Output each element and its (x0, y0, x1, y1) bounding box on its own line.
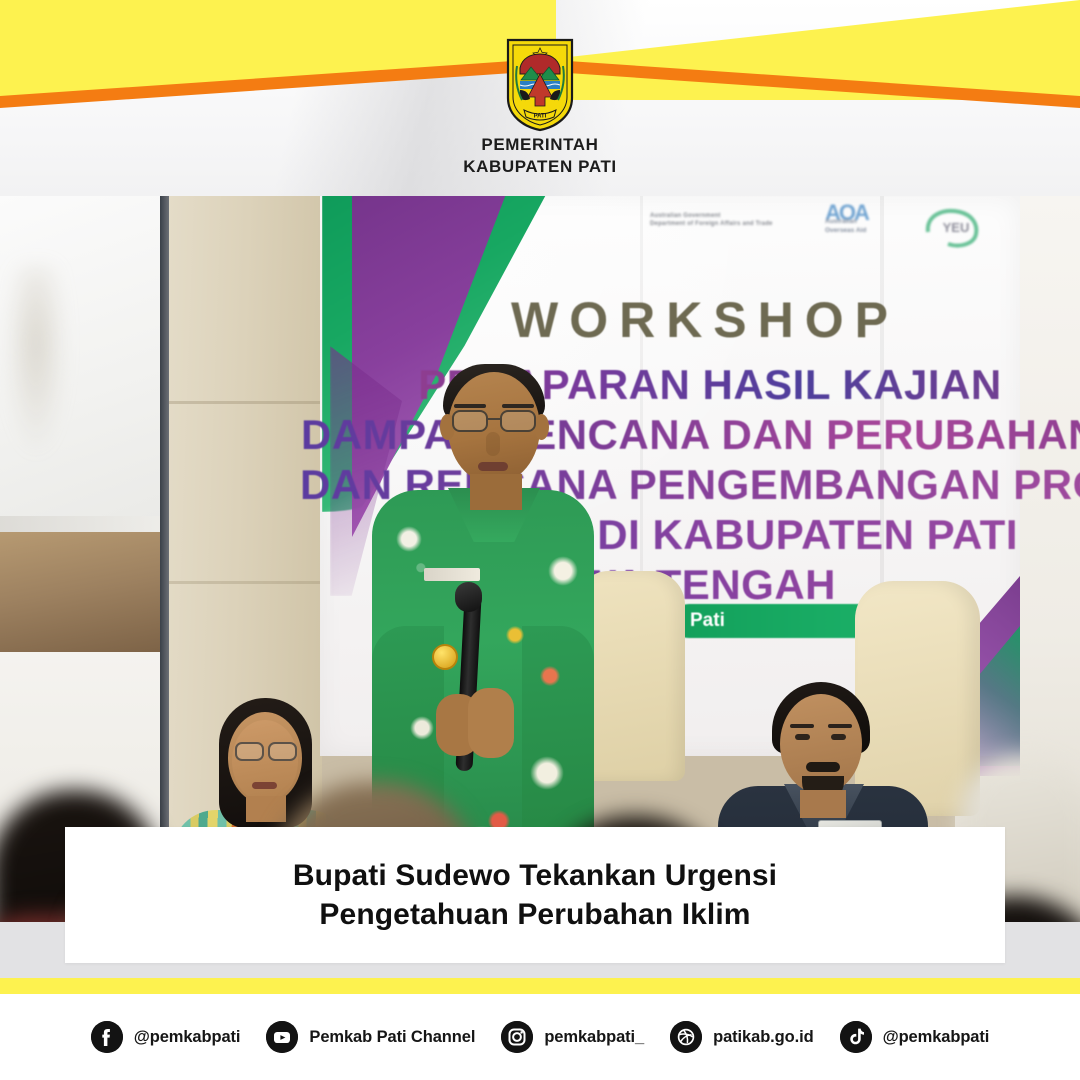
social-account-instagram[interactable]: pemkabpati_ (501, 1021, 644, 1053)
headline-text: Bupati Sudewo Tekankan Urgensi Pengetahu… (293, 856, 777, 934)
social-media-poster: PATI PEMERINTAH KABUPATEN PATI (0, 0, 1080, 1080)
organization-name: PEMERINTAH KABUPATEN PATI (0, 134, 1080, 178)
banner-pill-label: Pati (690, 610, 725, 632)
instagram-icon[interactable] (501, 1021, 533, 1053)
speaker-eyebrow-left (454, 404, 486, 408)
man-eye-left (795, 734, 810, 740)
social-account-facebook[interactable]: @pemkabpati (91, 1021, 241, 1053)
wall-panel-seam (167, 581, 322, 584)
speaker-eyeglass-bridge (488, 418, 500, 420)
website-icon[interactable] (670, 1021, 702, 1053)
speaker-eyebrow-right (502, 404, 534, 408)
woman-eyeglass-left (235, 742, 264, 761)
wooden-podium (0, 532, 180, 652)
batik-motif (396, 526, 422, 552)
footer-yellow-divider (0, 978, 1080, 994)
batik-motif (530, 756, 564, 790)
speaker-eyeglass-left (452, 410, 488, 432)
wall-panel-seam (167, 401, 322, 404)
batik-motif (548, 556, 578, 586)
man-eyebrow-left (790, 724, 814, 728)
social-account-tiktok[interactable]: @pemkabpati (840, 1021, 990, 1053)
aoa-line-2: Overseas Aid (825, 226, 868, 235)
org-line-2: KABUPATEN PATI (0, 156, 1080, 178)
facebook-icon[interactable] (91, 1021, 123, 1053)
poster-header: PATI PEMERINTAH KABUPATEN PATI (0, 0, 1080, 196)
social-account-youtube[interactable]: Pemkab Pati Channel (266, 1021, 475, 1053)
australian-government-dfat-logo: Australian Government Department of Fore… (650, 212, 773, 228)
headline-line-2: Pengetahuan Perubahan Iklim (293, 895, 777, 934)
woman-eyeglass-right (268, 742, 297, 761)
headline-line-1: Bupati Sudewo Tekankan Urgensi (293, 856, 777, 895)
pati-regency-crest-icon: PATI (504, 34, 576, 132)
woman-neck (246, 796, 286, 822)
dfat-logo-line-1: Australian Government (650, 212, 773, 220)
speaker-nose (486, 432, 500, 456)
social-media-footer: @pemkabpati Pemkab Pati Channel pemkabpa… (0, 994, 1080, 1080)
facebook-handle[interactable]: @pemkabpati (134, 1028, 241, 1047)
youtube-handle[interactable]: Pemkab Pati Channel (309, 1028, 475, 1047)
svg-text:YEU: YEU (943, 220, 970, 235)
news-photo: Australian Government Department of Fore… (0, 196, 1080, 922)
instagram-handle[interactable]: pemkabpati_ (544, 1028, 644, 1047)
australian-overseas-aid-logo: AOA Australian Overseas Aid (825, 208, 868, 235)
batik-motif (410, 716, 434, 740)
speaker-mouth (478, 462, 508, 471)
banner-sponsor-logos: Australian Government Department of Fore… (640, 204, 1040, 264)
speaker-eyeglass-right (500, 410, 536, 432)
aoa-mark: AOA (825, 208, 868, 217)
projector-screen-toolbar (0, 516, 168, 532)
tiktok-icon[interactable] (840, 1021, 872, 1053)
website-handle[interactable]: patikab.go.id (713, 1028, 813, 1047)
man-eyebrow-right (828, 724, 852, 728)
yeu-logo: YEU (920, 206, 986, 250)
chair-right (855, 581, 980, 816)
headline-caption-box: Bupati Sudewo Tekankan Urgensi Pengetahu… (65, 827, 1005, 963)
speaker-hand-right (468, 688, 514, 758)
batik-motif (506, 626, 524, 644)
wall-dark-edge (160, 196, 169, 922)
man-eye-right (831, 734, 846, 740)
dfat-logo-line-2: Department of Foreign Affairs and Trade (650, 220, 773, 228)
speaker-gold-emblem (432, 644, 458, 670)
org-line-1: PEMERINTAH (0, 134, 1080, 156)
man-moustache (806, 762, 840, 772)
speaker-neck (470, 474, 522, 510)
projector-screen-glare (6, 266, 66, 456)
social-account-website[interactable]: patikab.go.id (670, 1021, 813, 1053)
tiktok-handle[interactable]: @pemkabpati (883, 1028, 990, 1047)
microphone-head (455, 582, 482, 612)
speaker-name-badge (424, 568, 480, 581)
youtube-icon[interactable] (266, 1021, 298, 1053)
banner-title: WORKSHOP (330, 291, 1080, 349)
svg-text:PATI: PATI (534, 114, 547, 120)
speaker-ear-right (534, 414, 549, 440)
batik-motif (540, 666, 560, 686)
woman-face (232, 720, 298, 802)
man-neck (800, 790, 846, 818)
woman-mouth (252, 782, 277, 789)
banner-subtitle-2: DAMPAK BENCANA DAN PERUBAHAN (300, 411, 1080, 459)
